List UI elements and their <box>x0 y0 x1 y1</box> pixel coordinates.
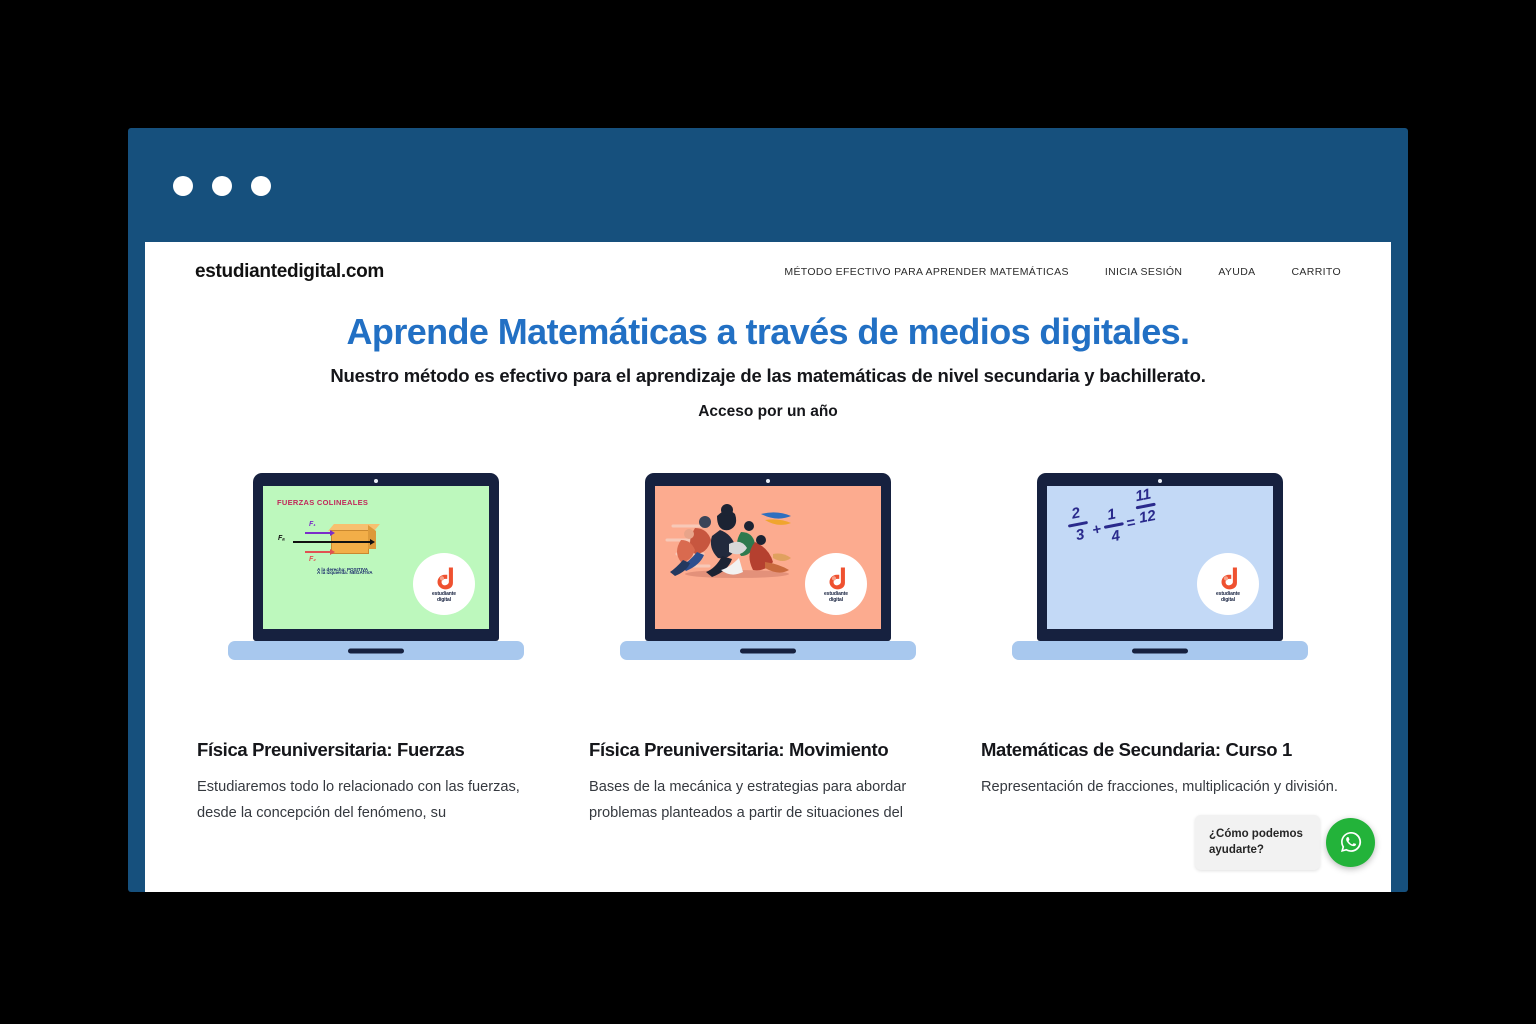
laptop-lid: FUERZAS COLINEALES F₁ Fₐ <box>253 473 499 641</box>
fraction-c: 11 12 <box>1132 486 1159 526</box>
webcam-icon <box>1158 479 1162 483</box>
whatsapp-icon <box>1336 827 1366 857</box>
fraction-c-denominator: 12 <box>1138 508 1157 526</box>
laptop-illustration: 2 3 + 1 4 <box>981 473 1339 660</box>
diagram-title: FUERZAS COLINEALES <box>277 498 427 507</box>
card-text-block: Física Preuniversitaria: Fuerzas Estudia… <box>197 660 555 826</box>
estudiante-digital-logo-icon <box>823 565 849 591</box>
laptop-base-notch <box>740 648 796 653</box>
fraction-b: 1 4 <box>1100 506 1127 546</box>
laptop-base-notch <box>348 648 404 653</box>
fraction-equation: 2 3 + 1 4 <box>1069 508 1159 545</box>
hero-tagline: Acceso por un año <box>185 403 1351 421</box>
whatsapp-widget: ¿Cómo podemos ayudarte? <box>1195 815 1375 870</box>
webcam-icon <box>374 479 378 483</box>
course-card[interactable]: FUERZAS COLINEALES F₁ Fₐ <box>197 473 555 826</box>
brand-badge-line2: digital <box>829 598 843 604</box>
course-card[interactable]: estudiante digital Física Preuniversitar… <box>589 473 947 826</box>
brand-badge: estudiante digital <box>1197 553 1259 615</box>
nav-item-ayuda[interactable]: AYUDA <box>1218 266 1255 278</box>
hero-subtitle: Nuestro método es efectivo para el apren… <box>185 365 1351 387</box>
laptop-lid: estudiante digital <box>645 473 891 641</box>
card-title[interactable]: Física Preuniversitaria: Fuerzas <box>197 738 555 761</box>
window-controls <box>173 176 271 196</box>
runners-illustration <box>665 496 805 582</box>
laptop-illustration: FUERZAS COLINEALES F₁ Fₐ <box>197 473 555 660</box>
card-text-block: Física Preuniversitaria: Movimiento Base… <box>589 660 947 826</box>
fraction-b-denominator: 4 <box>1110 528 1121 544</box>
browser-window-frame: estudiantedigital.com MÉTODO EFECTIVO PA… <box>128 128 1408 892</box>
diagram-body: F₁ Fₐ F₂ <box>277 516 427 572</box>
nav-item-carrito[interactable]: CARRITO <box>1291 266 1341 278</box>
force-arrow-f1 <box>305 532 331 534</box>
operator-equals: = <box>1125 514 1137 532</box>
whatsapp-button[interactable] <box>1326 818 1375 867</box>
brand-badge: estudiante digital <box>413 553 475 615</box>
laptop-base-notch <box>1132 648 1188 653</box>
brand-badge: estudiante digital <box>805 553 867 615</box>
course-card[interactable]: 2 3 + 1 4 <box>981 473 1339 826</box>
fraction-a-numerator: 2 <box>1070 506 1081 522</box>
webcam-icon <box>766 479 770 483</box>
estudiante-digital-logo-icon <box>1215 565 1241 591</box>
site-header: estudiantedigital.com MÉTODO EFECTIVO PA… <box>145 242 1391 302</box>
laptop-screen-physics: FUERZAS COLINEALES F₁ Fₐ <box>263 486 489 629</box>
laptop-lid: 2 3 + 1 4 <box>1037 473 1283 641</box>
fraction-a-denominator: 3 <box>1074 527 1085 543</box>
page-viewport: estudiantedigital.com MÉTODO EFECTIVO PA… <box>145 242 1391 892</box>
force-label-f2: F₂ <box>309 556 316 563</box>
force-arrow-fa <box>293 541 371 543</box>
card-text-block: Matemáticas de Secundaria: Curso 1 Repre… <box>981 660 1339 801</box>
force-label-fa: Fₐ <box>278 535 285 542</box>
laptop-screen-movement: estudiante digital <box>655 486 881 629</box>
window-dot-close-icon[interactable] <box>173 176 193 196</box>
hero-section: Aprende Matemáticas a través de medios d… <box>145 302 1391 421</box>
fraction-c-numerator: 11 <box>1134 487 1152 505</box>
main-navigation: MÉTODO EFECTIVO PARA APRENDER MATEMÁTICA… <box>784 266 1341 278</box>
course-cards-grid: FUERZAS COLINEALES F₁ Fₐ <box>145 421 1391 826</box>
window-dot-minimize-icon[interactable] <box>212 176 232 196</box>
browser-chrome-bar <box>128 128 1408 242</box>
fraction-b-numerator: 1 <box>1106 507 1117 523</box>
force-arrow-f2 <box>305 551 331 553</box>
nav-item-metodo[interactable]: MÉTODO EFECTIVO PARA APRENDER MATEMÁTICA… <box>784 266 1068 278</box>
whatsapp-prompt-bubble[interactable]: ¿Cómo podemos ayudarte? <box>1195 815 1320 870</box>
card-description: Bases de la mecánica y estrategias para … <box>589 775 947 826</box>
card-description: Estudiaremos todo lo relacionado con las… <box>197 775 555 826</box>
screenshot-stage: estudiantedigital.com MÉTODO EFECTIVO PA… <box>0 0 1536 1024</box>
brand-logo-text[interactable]: estudiantedigital.com <box>195 261 384 283</box>
card-title[interactable]: Física Preuniversitaria: Movimiento <box>589 738 947 761</box>
laptop-base <box>620 641 916 660</box>
window-dot-maximize-icon[interactable] <box>251 176 271 196</box>
nav-item-inicia-sesion[interactable]: INICIA SESIÓN <box>1105 266 1183 278</box>
fraction-a: 2 3 <box>1065 505 1092 545</box>
card-description: Representación de fracciones, multiplica… <box>981 775 1339 801</box>
brand-badge-line2: digital <box>1221 598 1235 604</box>
physics-diagram: FUERZAS COLINEALES F₁ Fₐ <box>277 498 427 577</box>
laptop-illustration: estudiante digital <box>589 473 947 660</box>
page-title: Aprende Matemáticas a través de medios d… <box>185 312 1351 352</box>
laptop-screen-fractions: 2 3 + 1 4 <box>1047 486 1273 629</box>
estudiante-digital-logo-icon <box>431 565 457 591</box>
laptop-base <box>1012 641 1308 660</box>
card-title[interactable]: Matemáticas de Secundaria: Curso 1 <box>981 738 1339 761</box>
operator-plus: + <box>1091 521 1103 539</box>
force-label-f1: F₁ <box>309 521 316 528</box>
brand-badge-line2: digital <box>437 598 451 604</box>
laptop-base <box>228 641 524 660</box>
